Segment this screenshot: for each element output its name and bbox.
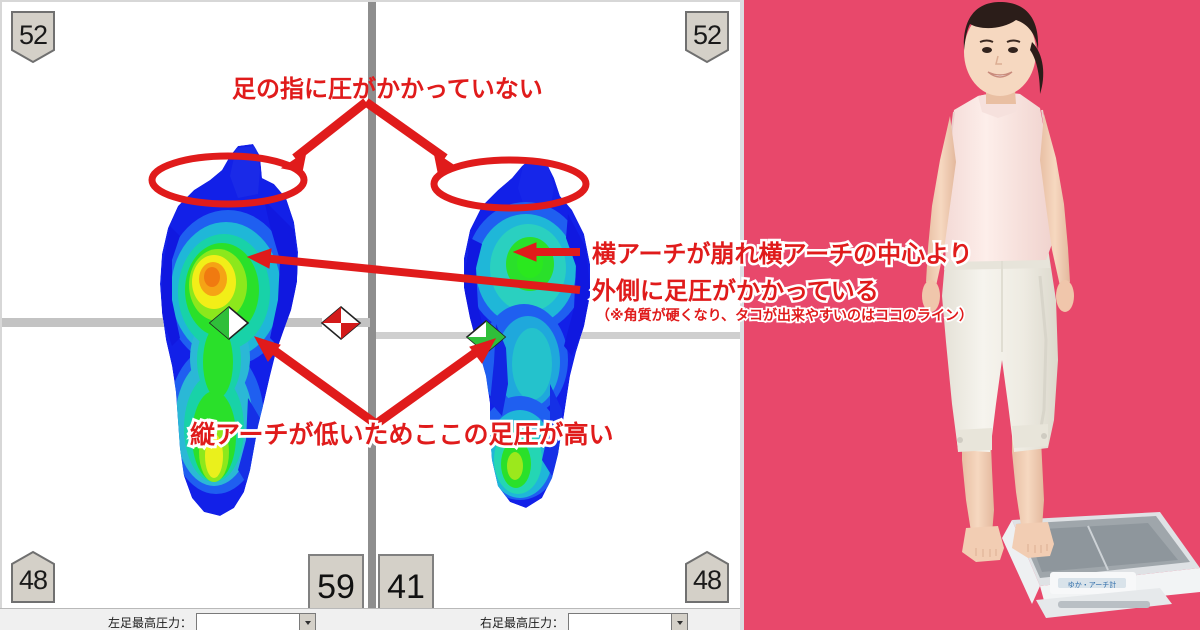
right-max-pressure-field-group: 右足最高圧力： — [480, 613, 688, 630]
left-max-pressure-combobox[interactable] — [196, 613, 316, 630]
right-max-pressure-combobox[interactable] — [568, 613, 688, 630]
gauge-value: 48 — [693, 561, 721, 594]
chevron-down-icon[interactable] — [299, 614, 315, 630]
footer-form-strip: 左足最高圧力： 右足最高圧力： — [0, 608, 740, 630]
model-shirt — [942, 92, 1052, 262]
foot-pressure-app-panel: 52 52 48 48 59 — [0, 0, 740, 630]
gauge-top-left[interactable]: 52 — [10, 10, 56, 64]
svg-text:ゆか・アーチ計: ゆか・アーチ計 — [1068, 580, 1117, 589]
gauge-value: 48 — [19, 561, 47, 594]
model-photo: ゆか・アーチ計 — [740, 0, 1200, 630]
right-max-pressure-label: 右足最高圧力： — [480, 614, 564, 630]
left-max-pressure-label: 左足最高圧力： — [108, 614, 192, 630]
gauge-bottom-right[interactable]: 48 — [684, 550, 730, 604]
right-foot-cop-marker[interactable] — [465, 319, 507, 355]
left-foot-cop-marker[interactable] — [208, 305, 250, 341]
right-foot-pressure-map — [420, 148, 630, 538]
photo-panel: ゆか・アーチ計 — [740, 0, 1200, 630]
gauge-value: 52 — [19, 22, 47, 53]
left-max-pressure-field-group: 左足最高圧力： — [108, 613, 316, 630]
vertical-center-divider — [368, 2, 376, 610]
gauge-top-right[interactable]: 52 — [684, 10, 730, 64]
pressure-plot-area[interactable]: 52 52 48 48 59 — [0, 0, 740, 608]
screenshot-root: 52 52 48 48 59 — [0, 0, 1200, 630]
left-load-value: 59 — [317, 570, 355, 604]
gauge-value: 52 — [693, 22, 721, 53]
chevron-down-icon[interactable] — [671, 614, 687, 630]
gauge-bottom-left[interactable]: 48 — [10, 550, 56, 604]
overall-cop-marker[interactable] — [320, 305, 362, 341]
right-load-value: 41 — [387, 570, 425, 604]
